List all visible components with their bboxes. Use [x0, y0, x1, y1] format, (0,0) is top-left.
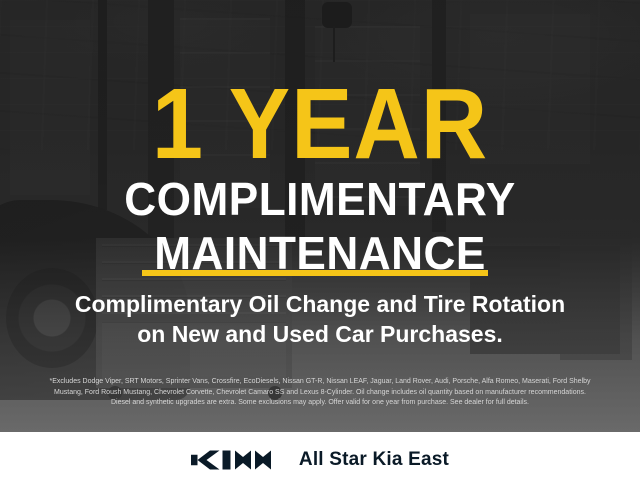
- headline-year: 1 YEAR: [26, 74, 615, 174]
- disclaimer-text: *Excludes Dodge Viper, SRT Motors, Sprin…: [14, 377, 626, 409]
- brand-footer: All Star Kia East: [0, 432, 640, 488]
- disclaimer-line-2: Mustang, Ford Roush Mustang, Chevrolet C…: [14, 388, 626, 399]
- promo-line-1: Complimentary Oil Change and Tire Rotati…: [75, 291, 565, 317]
- yellow-divider-rule: [142, 270, 488, 276]
- banner-copy: 1 YEAR COMPLIMENTARY MAINTENANCE Complim…: [0, 0, 640, 432]
- kia-logo-icon: [191, 448, 277, 472]
- hero-image-region: 1 YEAR COMPLIMENTARY MAINTENANCE Complim…: [0, 0, 640, 432]
- headline-subtitle: COMPLIMENTARY MAINTENANCE: [13, 176, 627, 276]
- disclaimer-line-3: Diesel and synthetic upgrades are extra.…: [14, 398, 626, 409]
- promo-text: Complimentary Oil Change and Tire Rotati…: [0, 289, 640, 349]
- headline-line-1: COMPLIMENTARY: [124, 173, 515, 225]
- promotional-banner: 1 YEAR COMPLIMENTARY MAINTENANCE Complim…: [0, 0, 640, 488]
- disclaimer-line-1: *Excludes Dodge Viper, SRT Motors, Sprin…: [14, 377, 626, 388]
- dealer-name: All Star Kia East: [299, 449, 449, 471]
- promo-line-2: on New and Used Car Purchases.: [0, 319, 640, 349]
